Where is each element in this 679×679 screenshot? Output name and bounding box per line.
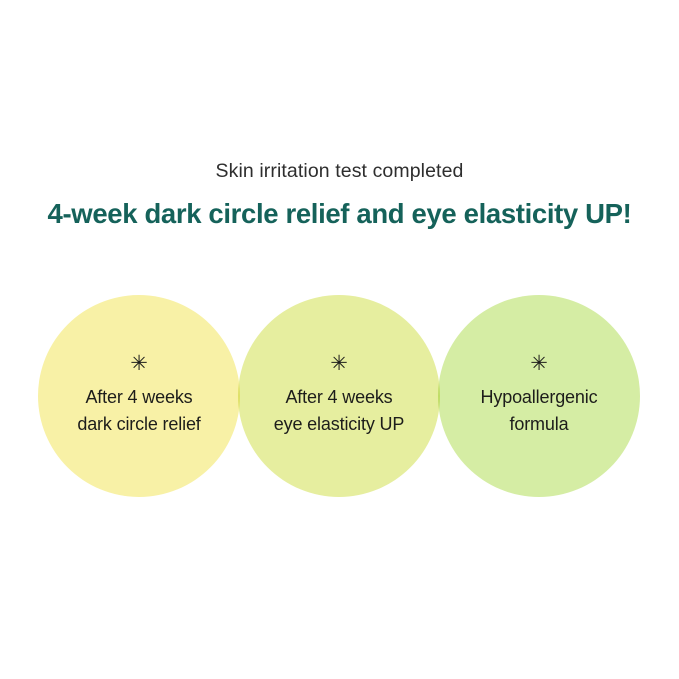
benefit-badge-eye-elasticity: ✳ After 4 weeks eye elasticity UP [238,295,440,497]
benefit-badge-text: After 4 weeks eye elasticity UP [274,384,405,438]
benefit-badge-line-1: After 4 weeks [77,384,200,411]
benefit-badge-line-2: eye elasticity UP [274,411,405,438]
promo-poster: Skin irritation test completed 4-week da… [0,0,679,679]
benefit-badge-text: Hypoallergenic formula [481,384,598,438]
asterisk-star-icon: ✳ [330,354,348,373]
benefit-badge-hypoallergenic: ✳ Hypoallergenic formula [438,295,640,497]
heading-block: Skin irritation test completed 4-week da… [0,158,679,231]
asterisk-star-icon: ✳ [130,354,148,373]
benefit-badge-group: ✳ After 4 weeks dark circle relief ✳ Aft… [0,295,679,497]
benefit-badge-line-2: formula [481,411,598,438]
benefit-badge-text: After 4 weeks dark circle relief [77,384,200,438]
asterisk-star-icon: ✳ [530,354,548,373]
benefit-badge-line-1: After 4 weeks [274,384,405,411]
benefit-badge-line-1: Hypoallergenic [481,384,598,411]
eyebrow-text: Skin irritation test completed [0,158,679,184]
page-title: 4-week dark circle relief and eye elasti… [0,197,679,231]
benefit-badge-line-2: dark circle relief [77,411,200,438]
benefit-badge-dark-circle-relief: ✳ After 4 weeks dark circle relief [38,295,240,497]
